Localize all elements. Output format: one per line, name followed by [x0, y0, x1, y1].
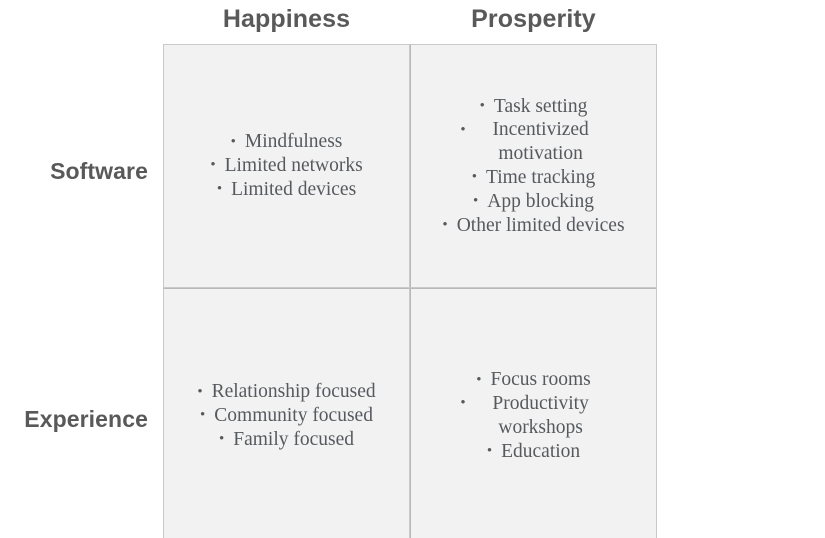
bullet-point-icon: • [200, 406, 205, 424]
row-header-software: Software [0, 159, 148, 184]
bullet-list-item: •Task setting [442, 95, 624, 119]
bullet-list-item: •App blocking [442, 190, 624, 214]
bullet-list-item: •Mindfulness [210, 130, 362, 154]
bullet-point-icon: • [460, 121, 465, 139]
bullet-list-item: •Incentivized motivation [442, 118, 624, 166]
bullet-list: •Focus rooms•Productivity workshops•Educ… [460, 368, 606, 463]
matrix-grid: •Mindfulness•Limited networks•Limited de… [163, 44, 657, 538]
bullet-list-item-label: Community focused [214, 405, 373, 426]
bullet-list-item: •Education [460, 440, 606, 464]
bullet-list-item-label: Mindfulness [245, 131, 343, 152]
bullet-list-item: •Community focused [197, 404, 375, 428]
bullet-list-item-label: Limited networks [225, 155, 363, 176]
bullet-point-icon: • [231, 133, 236, 151]
bullet-list-item: •Focus rooms [460, 368, 606, 392]
bullet-point-icon: • [473, 192, 478, 210]
bullet-list-item: •Productivity workshops [460, 392, 606, 440]
quadrant-experience-happiness: •Relationship focused•Community focused•… [163, 288, 410, 538]
bullet-list-item-label: Other limited devices [457, 215, 625, 236]
bullet-list-item-label: Limited devices [231, 179, 356, 200]
bullet-list-item-label: Time tracking [486, 167, 595, 188]
bullet-list-item: •Relationship focused [197, 380, 375, 404]
row-header-experience: Experience [0, 407, 148, 432]
bullet-list-item-label: Focus rooms [491, 369, 591, 390]
bullet-list-item: •Time tracking [442, 166, 624, 190]
bullet-list-item: •Limited devices [210, 178, 362, 202]
bullet-point-icon: • [476, 371, 481, 389]
bullet-point-icon: • [210, 156, 215, 174]
bullet-list: •Mindfulness•Limited networks•Limited de… [210, 130, 362, 201]
bullet-list-item: •Family focused [197, 428, 375, 452]
column-header-label: Prosperity [471, 7, 596, 32]
row-header-label: Experience [24, 406, 148, 432]
bullet-list-item-label: App blocking [487, 191, 594, 212]
bullet-point-icon: • [219, 430, 224, 448]
bullet-list: •Relationship focused•Community focused•… [197, 380, 375, 451]
column-header-row: Happiness Prosperity [163, 0, 657, 44]
row-header-label: Software [50, 158, 148, 184]
quadrant-experience-prosperity: •Focus rooms•Productivity workshops•Educ… [410, 288, 657, 538]
bullet-point-icon: • [217, 180, 222, 198]
bullet-point-icon: • [472, 168, 477, 186]
bullet-list-item-label: Productivity workshops [475, 392, 607, 440]
bullet-list-item-label: Relationship focused [212, 381, 376, 402]
bullet-list-item: •Other limited devices [442, 214, 624, 238]
column-header-label: Happiness [223, 7, 350, 32]
bullet-list-item-label: Task setting [494, 96, 587, 117]
row-header-column: Software Experience [0, 44, 163, 538]
bullet-list: •Task setting•Incentivized motivation•Ti… [442, 95, 624, 238]
column-header-prosperity: Prosperity [410, 0, 657, 44]
bullet-list-item-label: Education [501, 441, 580, 462]
bullet-list-item: •Limited networks [210, 154, 362, 178]
bullet-point-icon: • [480, 97, 485, 115]
column-header-happiness: Happiness [163, 0, 410, 44]
bullet-point-icon: • [442, 216, 447, 234]
bullet-point-icon: • [487, 442, 492, 460]
bullet-point-icon: • [460, 394, 465, 412]
quadrant-matrix-diagram: Happiness Prosperity Software Experience… [0, 0, 825, 538]
quadrant-software-happiness: •Mindfulness•Limited networks•Limited de… [163, 44, 410, 288]
bullet-point-icon: • [197, 383, 202, 401]
bullet-list-item-label: Incentivized motivation [475, 118, 607, 166]
bullet-list-item-label: Family focused [233, 429, 354, 450]
quadrant-software-prosperity: •Task setting•Incentivized motivation•Ti… [410, 44, 657, 288]
